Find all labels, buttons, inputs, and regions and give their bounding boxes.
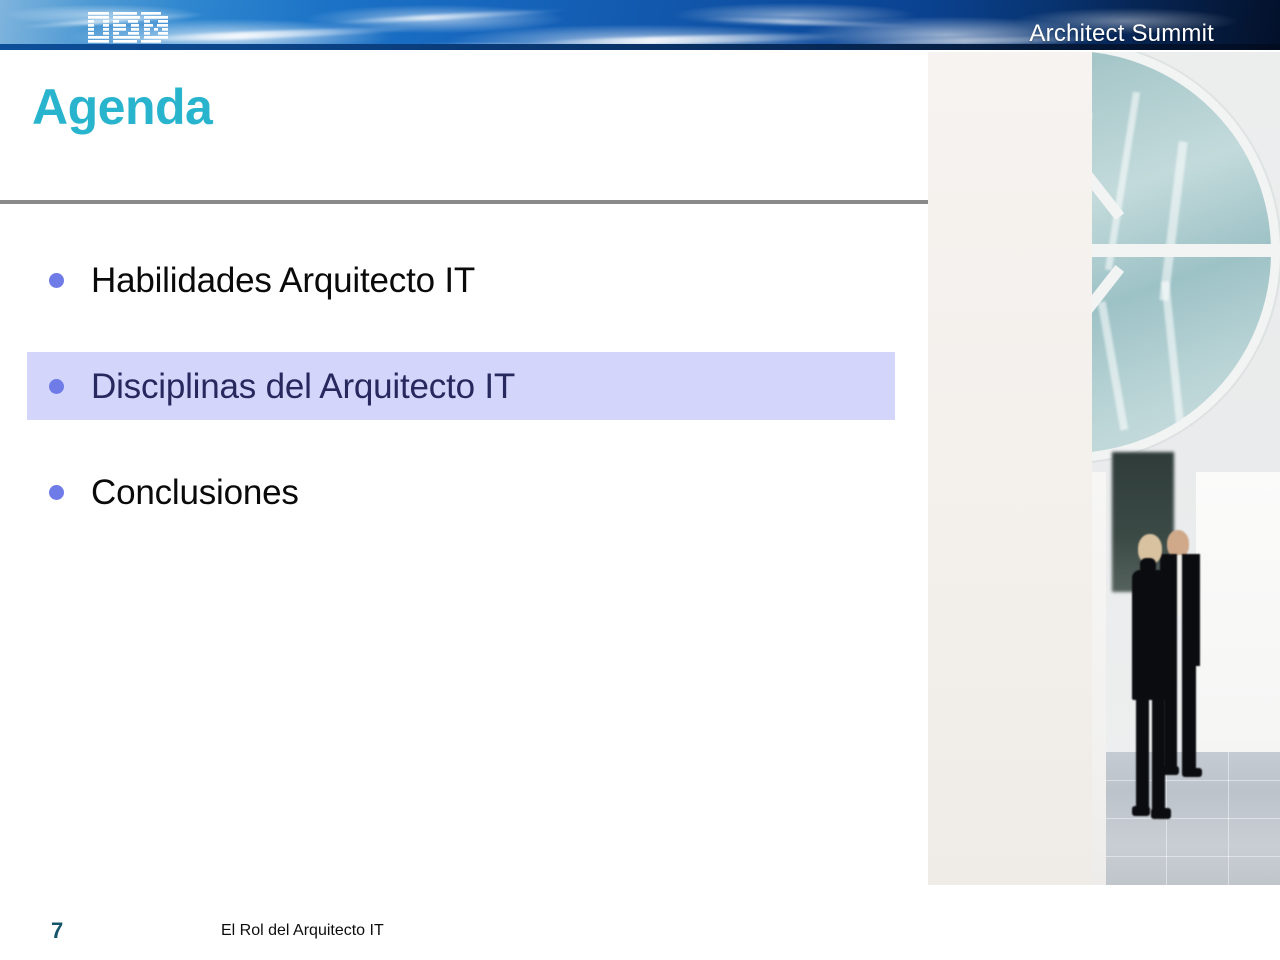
photo-wall-edge [1092, 472, 1106, 885]
pavement-joint [1228, 752, 1229, 885]
person-jacket [1182, 554, 1200, 666]
list-item-label: Habilidades Arquitecto IT [91, 263, 475, 298]
person-shoe [1151, 808, 1171, 819]
person-shoe [1132, 806, 1150, 816]
bullet-icon [49, 273, 64, 288]
list-item-label: Conclusiones [91, 475, 299, 510]
list-item-label: Disciplinas del Arquitecto IT [91, 369, 515, 404]
glass-reflection [1098, 301, 1128, 430]
photo-wall-left [928, 52, 1092, 885]
bullet-icon [49, 379, 64, 394]
event-title: Architect Summit [1029, 20, 1214, 48]
page-number: 7 [51, 918, 63, 944]
person-figure [1130, 534, 1176, 819]
ibm-logo [88, 12, 172, 44]
person-leg [1152, 694, 1165, 814]
glass-reflection [1161, 281, 1185, 431]
deck-title: El Rol del Arquitecto IT [221, 922, 384, 940]
person-leg [1182, 660, 1196, 772]
agenda-list: Habilidades Arquitecto IT Disciplinas de… [0, 246, 928, 526]
person-coat [1132, 570, 1168, 700]
title-divider [0, 200, 928, 204]
person-leg [1136, 694, 1149, 814]
photo-architecture [1092, 52, 1280, 885]
top-banner: Architect Summit [0, 0, 1280, 50]
page-title: Agenda [32, 80, 212, 135]
list-item[interactable]: Habilidades Arquitecto IT [0, 246, 928, 314]
glass-reflection [1159, 141, 1187, 301]
glass-window-icon [1092, 52, 1280, 462]
person-shoe [1182, 768, 1202, 777]
pavement-joint [1106, 856, 1280, 857]
slide-footer: 7 El Rol del Arquitecto IT [0, 918, 1280, 960]
list-item[interactable]: Conclusiones [0, 458, 928, 526]
decorative-photo [928, 52, 1280, 885]
bullet-icon [49, 485, 64, 500]
window-mullion [1092, 244, 1280, 257]
list-item-highlighted[interactable]: Disciplinas del Arquitecto IT [27, 352, 895, 420]
